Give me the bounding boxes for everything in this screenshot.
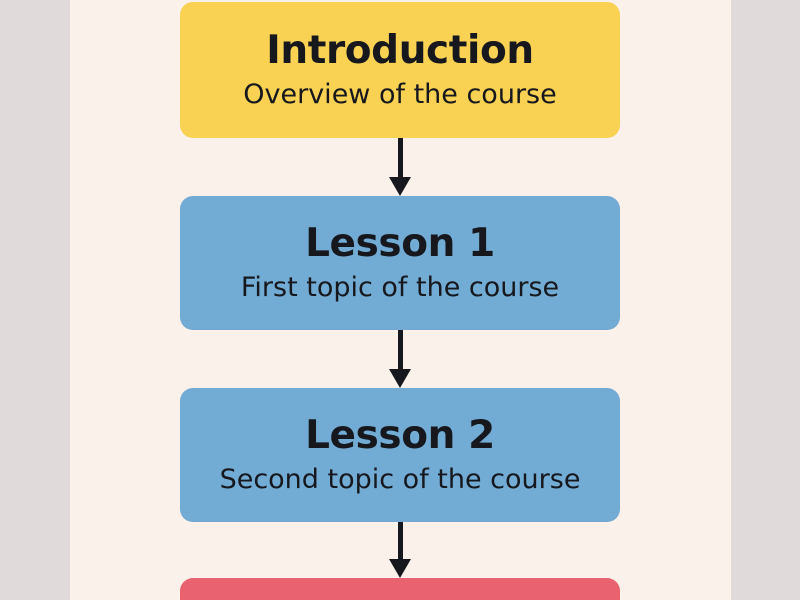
arrow-head — [389, 559, 411, 578]
flow-node-subtitle: Overview of the course — [243, 80, 556, 110]
arrow-head — [389, 177, 411, 196]
diagram-surface: Introduction Overview of the course Less… — [70, 0, 731, 600]
flow-node-title: Lesson 1 — [305, 223, 495, 264]
arrow-head — [389, 369, 411, 388]
flow-node-introduction[interactable]: Introduction Overview of the course — [180, 2, 620, 138]
arrow-down-icon — [395, 330, 405, 388]
arrow-down-icon — [395, 138, 405, 196]
page-gutter-right — [731, 0, 800, 600]
page-gutter-left — [0, 0, 70, 600]
flowchart-canvas: Introduction Overview of the course Less… — [0, 0, 800, 600]
flow-node-lesson-1[interactable]: Lesson 1 First topic of the course — [180, 196, 620, 330]
arrow-shaft — [398, 138, 403, 177]
arrow-shaft — [398, 522, 403, 559]
flow-node-subtitle: Second topic of the course — [220, 465, 581, 495]
flow-node-clipped[interactable] — [180, 578, 620, 600]
flow-node-title: Lesson 2 — [305, 415, 495, 456]
flow-node-lesson-2[interactable]: Lesson 2 Second topic of the course — [180, 388, 620, 522]
arrow-down-icon — [395, 522, 405, 578]
flow-node-subtitle: First topic of the course — [241, 273, 559, 303]
flow-node-title: Introduction — [266, 30, 534, 71]
arrow-shaft — [398, 330, 403, 369]
